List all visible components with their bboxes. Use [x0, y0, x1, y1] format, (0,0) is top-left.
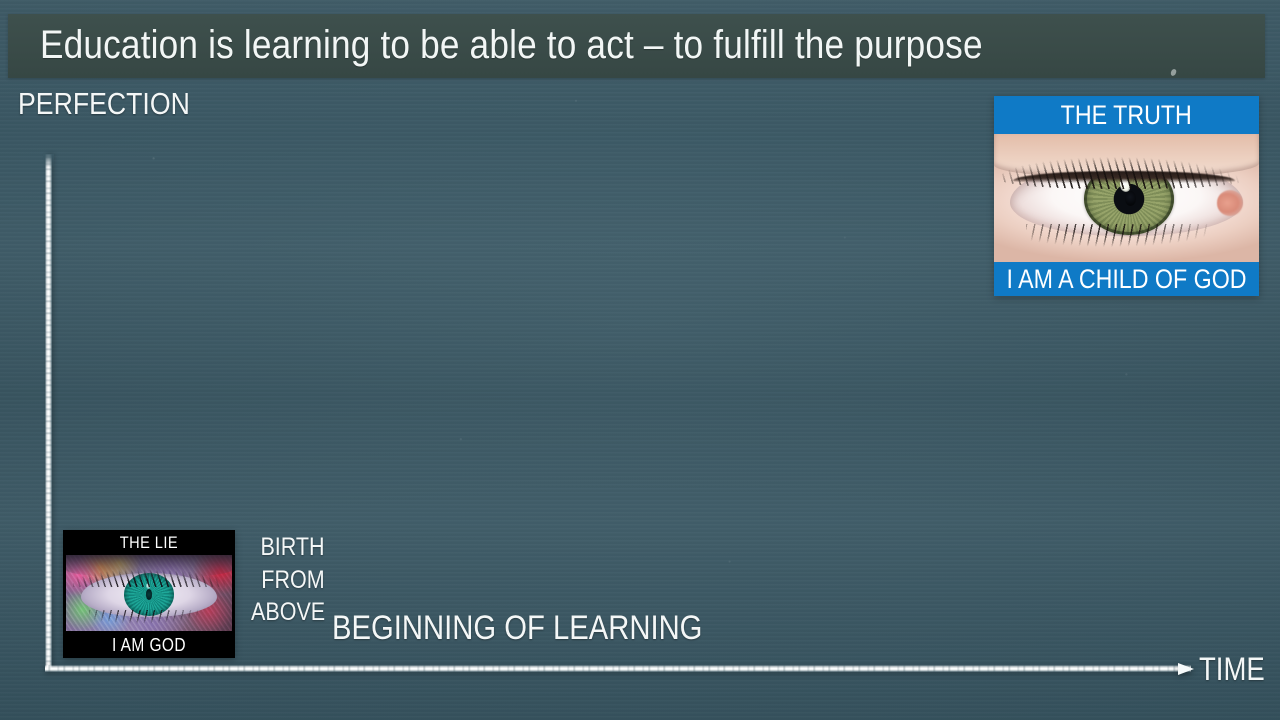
painted-eye-lower-lashes	[89, 610, 199, 625]
lie-card-footer: I AM GOD	[63, 631, 235, 658]
title-banner: Education is learning to be able to act …	[8, 14, 1265, 78]
x-axis-label-text: TIME	[1199, 653, 1265, 685]
beginning-of-learning-text: BEGINNING OF LEARNING	[332, 611, 702, 645]
eye-lower-lashes	[1026, 224, 1212, 250]
painted-eye-upper-lashes	[73, 569, 226, 587]
lie-card-header: THE LIE	[63, 530, 235, 555]
painted-eye-image	[66, 555, 232, 631]
green-eye-image	[994, 134, 1259, 262]
beginning-of-learning-annotation: BEGINNING OF LEARNING	[332, 611, 763, 645]
page-title-text: Education is learning to be able to act …	[40, 25, 983, 65]
eye-pupil	[1125, 191, 1137, 207]
x-axis-line	[45, 665, 1191, 672]
eye-tear-duct	[1217, 190, 1244, 216]
chalk-speck-icon	[1170, 68, 1177, 76]
slide-canvas: Education is learning to be able to act …	[0, 0, 1280, 720]
painted-eye-pupil	[146, 589, 152, 599]
truth-card-footer: I AM A CHILD OF GOD	[994, 262, 1259, 296]
page-title: Education is learning to be able to act …	[40, 25, 1111, 65]
y-axis-label-text: PERFECTION	[18, 88, 190, 119]
x-axis-label: TIME	[1199, 653, 1275, 685]
x-axis-arrow-icon	[1178, 663, 1194, 675]
y-axis-label: PERFECTION	[18, 88, 218, 119]
y-axis-line	[45, 154, 52, 670]
truth-card[interactable]: THE TRUTH I AM A CHILD OF GOD	[994, 96, 1259, 296]
truth-card-header: THE TRUTH	[994, 96, 1259, 134]
lie-card[interactable]: THE LIE I AM GOD	[63, 530, 235, 658]
